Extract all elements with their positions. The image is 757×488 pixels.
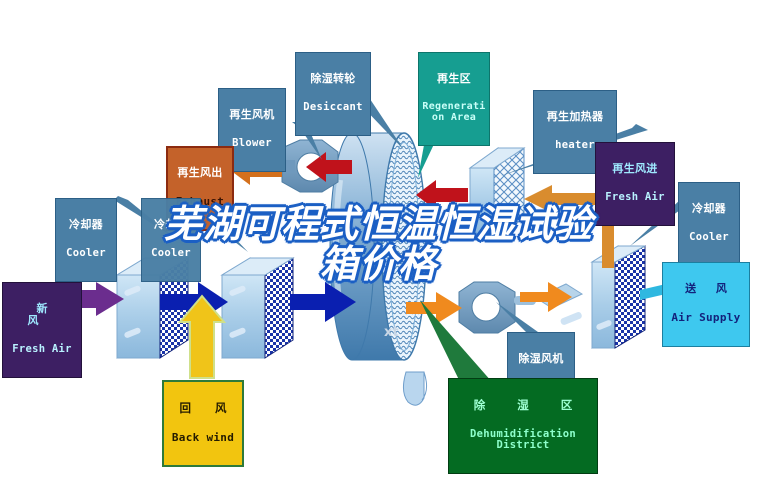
label-fresh-air-inlet-cn: 新 风 [5, 303, 79, 327]
label-exhaust-cn: 再生风出 [170, 167, 230, 179]
label-cooler-left-upper: 冷却器 Cooler [55, 198, 117, 282]
label-regen-fresh-air-en: Fresh Air [598, 192, 672, 203]
label-regeneration-heater-cn: 再生加热器 [536, 111, 614, 123]
label-fresh-air-inlet-en: Fresh Air [5, 344, 79, 355]
regeneration-heater-unit [470, 148, 524, 238]
label-back-wind: 回 风 Back wind [162, 380, 244, 467]
label-cooler-left-lower-cn: 冷却器 [144, 219, 198, 231]
label-cooler-right-en: Cooler [681, 232, 737, 243]
dehumidifier-process-diagram: xt 除湿转轮 Desiccant 再生风机 Blower 再生区 Regene… [0, 0, 757, 488]
cooler-unit-right [592, 246, 645, 348]
label-desiccant-wheel-en: Desiccant [298, 102, 368, 113]
label-cooler-right: 冷却器 Cooler [678, 182, 740, 266]
label-regen-fresh-air: 再生风进 Fresh Air [595, 142, 675, 226]
label-desiccant-wheel: 除湿转轮 Desiccant [295, 52, 371, 136]
label-regeneration-area-cn: 再生区 [421, 73, 487, 85]
label-desiccant-wheel-cn: 除湿转轮 [298, 73, 368, 85]
label-regeneration-blower-cn: 再生风机 [221, 109, 283, 121]
label-cooler-left-lower-en: Cooler [144, 248, 198, 259]
label-cooler-right-cn: 冷却器 [681, 203, 737, 215]
faint-watermark-mark: xt [384, 325, 399, 340]
label-cooler-left-upper-en: Cooler [58, 248, 114, 259]
label-regeneration-area: 再生区 Regenerati on Area [418, 52, 490, 146]
label-dehumidification-blower-cn: 除湿风机 [510, 353, 572, 365]
label-cooler-left-lower: 冷却器 Cooler [141, 198, 201, 282]
label-air-supply-cn: 送 风 [665, 283, 747, 295]
label-dehumidification-district-cn: 除 湿 区 [451, 399, 595, 411]
label-regen-fresh-air-cn: 再生风进 [598, 163, 672, 175]
label-air-supply: 送 风 Air Supply [662, 262, 750, 347]
cooler-unit-left-2 [222, 258, 293, 358]
label-fresh-air-inlet: 新 风 Fresh Air [2, 282, 82, 378]
label-dehumidification-district-en: Dehumidification District [451, 429, 595, 452]
label-regeneration-area-en: Regenerati on Area [421, 102, 487, 124]
label-cooler-left-upper-cn: 冷却器 [58, 219, 114, 231]
label-dehumidification-district: 除 湿 区 Dehumidification District [448, 378, 598, 474]
label-back-wind-cn: 回 风 [166, 402, 240, 414]
label-back-wind-en: Back wind [166, 432, 240, 444]
label-air-supply-en: Air Supply [665, 312, 747, 324]
arrow-regen-fresh-air-horizontal [524, 185, 598, 213]
